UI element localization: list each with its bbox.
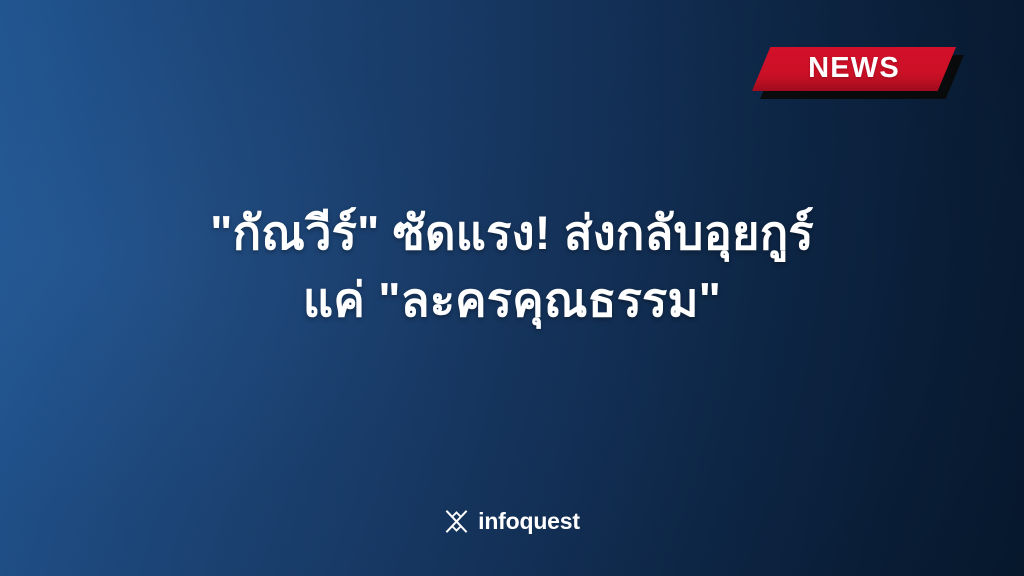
- infoquest-wordmark: infoquest: [478, 510, 580, 533]
- news-badge: NEWS: [752, 47, 970, 103]
- infoquest-logo: infoquest: [0, 509, 1024, 534]
- news-badge-label: NEWS: [808, 54, 900, 85]
- news-badge-body: NEWS: [752, 47, 956, 91]
- infoquest-x-mark-icon: [444, 509, 469, 534]
- headline: "กัณวีร์" ซัดแรง! ส่งกลับอุยกูร์ แค่ "ละ…: [0, 200, 1024, 333]
- news-card: NEWS "กัณวีร์" ซัดแรง! ส่งกลับอุยกูร์ แค…: [0, 0, 1024, 576]
- headline-line-1: "กัณวีร์" ซัดแรง! ส่งกลับอุยกูร์: [70, 200, 954, 267]
- headline-line-2: แค่ "ละครคุณธรรม": [70, 267, 954, 334]
